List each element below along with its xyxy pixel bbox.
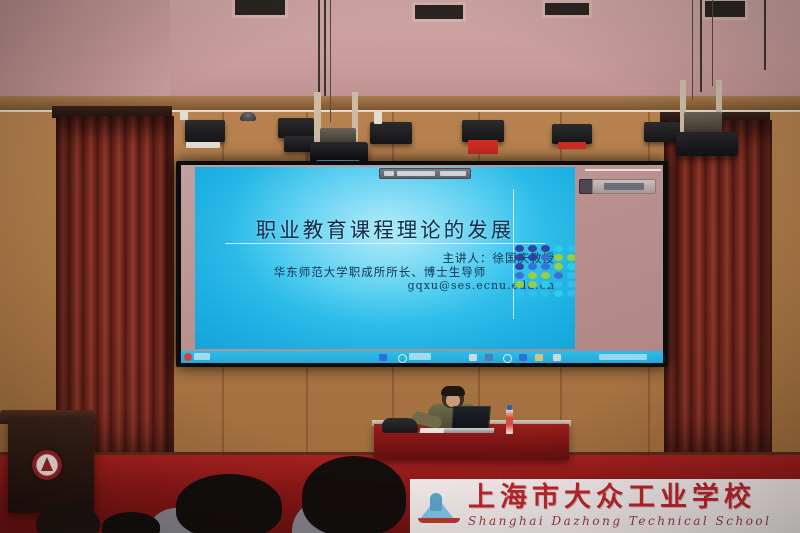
emblem-tree-icon xyxy=(41,457,53,471)
presenter-hair xyxy=(441,386,465,396)
stage-light-6 xyxy=(644,122,680,142)
stage-light-4 xyxy=(462,120,504,142)
projector-right xyxy=(676,132,738,156)
rig-cable xyxy=(764,0,766,70)
powerpoint-slide: 职业教育课程理论的发展 主讲人：徐国庆教授 华东师范大学职成所所长、博士生导师 … xyxy=(195,167,575,349)
slide-dot-9 xyxy=(567,254,575,261)
ceiling-vent-4 xyxy=(702,0,748,20)
slide-dot-20 xyxy=(515,281,524,288)
ceiling-vent-1 xyxy=(232,0,288,18)
watermark-text-block: 上海市大众工业学校 Shanghai Dazhong Technical Sch… xyxy=(468,484,772,528)
stage-curtain-right xyxy=(664,120,772,460)
taskview-icon[interactable] xyxy=(379,354,387,361)
projector-electronics-right xyxy=(684,112,722,134)
slide-dot-28 xyxy=(554,290,563,297)
ceiling-vent-3 xyxy=(542,0,592,18)
app-search-icon[interactable] xyxy=(503,354,512,363)
stage-light-3 xyxy=(370,122,412,144)
light-plate-1 xyxy=(186,142,220,148)
watermark-english-name: Shanghai Dazhong Technical School xyxy=(468,514,772,528)
toolbar-handle[interactable] xyxy=(579,179,593,194)
upper-wall-shadow xyxy=(0,0,170,100)
dome-camera xyxy=(240,112,256,121)
slide-dot-17 xyxy=(541,272,550,279)
papers-on-table xyxy=(419,428,446,433)
slide-dot-8 xyxy=(554,254,563,261)
app-icon-4[interactable] xyxy=(553,354,561,361)
bag-on-table xyxy=(382,418,418,433)
slide-dot-22 xyxy=(541,281,550,288)
rig-cable xyxy=(692,0,693,100)
audience-head xyxy=(36,506,100,533)
app-icon-3[interactable] xyxy=(519,354,527,361)
audience-head xyxy=(176,474,282,533)
slide-dot-21 xyxy=(528,281,537,288)
school-watermark: 上海市大众工业学校 Shanghai Dazhong Technical Sch… xyxy=(410,479,800,533)
ceiling-vent-2 xyxy=(412,2,466,22)
laptop-keyboard xyxy=(444,428,495,433)
slide-dot-23 xyxy=(554,281,563,288)
stage-light-5 xyxy=(552,124,592,144)
school-seal-icon xyxy=(416,483,462,529)
rig-cable xyxy=(700,0,702,92)
light-mount-1 xyxy=(180,110,188,120)
watermark-chinese-name: 上海市大众工业学校 xyxy=(468,484,772,512)
slide-dot-2 xyxy=(541,245,550,252)
slide-title: 职业教育课程理论的发展 xyxy=(211,213,559,243)
slide-dot-26 xyxy=(528,290,537,297)
app-icon-1[interactable] xyxy=(469,354,477,361)
toolbar-label xyxy=(604,183,644,190)
slide-dot-16 xyxy=(528,272,537,279)
light-plate-3 xyxy=(374,112,382,124)
slide-dot-11 xyxy=(528,263,537,270)
slide-dot-decoration xyxy=(515,245,575,297)
slide-dot-25 xyxy=(515,290,524,297)
rig-cable xyxy=(330,0,331,122)
projection-screen: 职业教育课程理论的发展 主讲人：徐国庆教授 华东师范大学职成所所长、博士生导师 … xyxy=(176,161,668,367)
slide-dot-18 xyxy=(554,272,563,279)
stage-light-4-gel xyxy=(468,140,498,154)
school-emblem-icon xyxy=(32,450,62,480)
slide-dot-27 xyxy=(541,290,550,297)
slide-email: gqxu@ses.ecnu.edu.cn xyxy=(225,279,555,292)
bottle-cap xyxy=(507,405,512,410)
slide-dot-1 xyxy=(528,245,537,252)
slide-dot-12 xyxy=(541,263,550,270)
rig-cable xyxy=(324,0,326,96)
window-edge xyxy=(585,169,661,171)
clock-text xyxy=(194,353,210,360)
lecture-hall-photo: 职业教育课程理论的发展 主讲人：徐国庆教授 华东师范大学职成所所长、博士生导师 … xyxy=(0,0,800,533)
slide-affiliation-line: 华东师范大学职成所所长、博士生导师 xyxy=(215,264,545,280)
slide-dot-10 xyxy=(515,263,524,270)
slide-title-underline xyxy=(225,243,545,244)
seal-wave-icon xyxy=(418,518,460,523)
folder-icon[interactable] xyxy=(535,354,543,361)
water-bottle xyxy=(506,409,513,434)
annotation-toolbar[interactable] xyxy=(592,179,656,194)
system-tray[interactable] xyxy=(599,354,647,360)
slide-dot-5 xyxy=(515,254,524,261)
slide-dot-6 xyxy=(528,254,537,261)
slide-dot-13 xyxy=(554,263,563,270)
seal-figure-icon xyxy=(430,493,442,511)
app-icon-2[interactable] xyxy=(485,354,493,361)
stage-light-2 xyxy=(278,118,314,138)
stage-light-1 xyxy=(185,120,225,142)
rig-cable xyxy=(712,0,713,86)
slide-dot-4 xyxy=(567,245,575,252)
search-input[interactable] xyxy=(409,353,431,360)
windows-taskbar[interactable] xyxy=(181,351,663,363)
slide-dot-14 xyxy=(567,263,575,270)
stage-light-5-gel xyxy=(558,142,586,149)
screen-surface: 职业教育课程理论的发展 主讲人：徐国庆教授 华东师范大学职成所所长、博士生导师 … xyxy=(181,165,663,363)
presentation-title-bar xyxy=(379,168,471,179)
slide-dot-7 xyxy=(541,254,550,261)
slide-dot-3 xyxy=(554,245,563,252)
slide-dot-0 xyxy=(515,245,524,252)
start-orb-icon[interactable] xyxy=(184,353,192,361)
search-icon[interactable] xyxy=(398,354,407,363)
slide-dot-19 xyxy=(567,272,575,279)
slide-dot-29 xyxy=(567,290,575,297)
slide-dot-24 xyxy=(567,281,575,288)
audience-head xyxy=(302,456,406,533)
slide-dot-15 xyxy=(515,272,524,279)
